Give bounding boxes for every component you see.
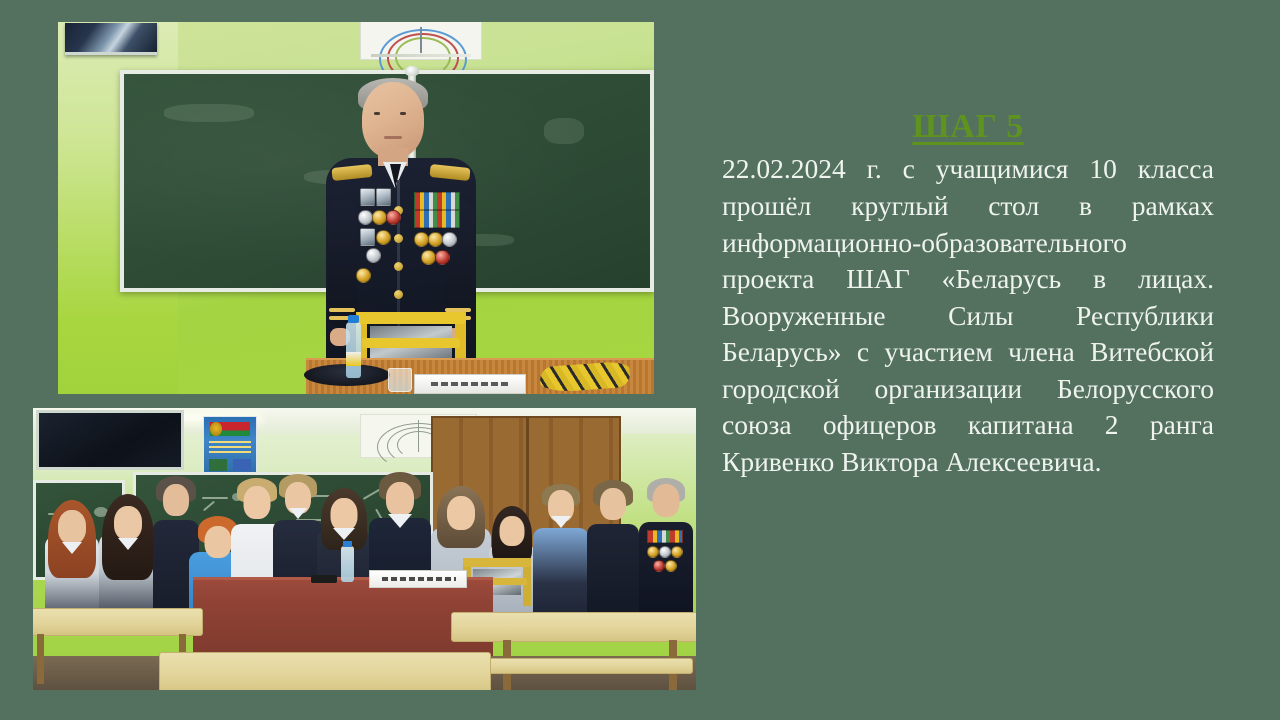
chest-badge (360, 228, 375, 246)
medal (435, 250, 450, 265)
water-bottle-icon (346, 322, 361, 378)
medal (386, 210, 401, 225)
medal (372, 210, 387, 225)
ribbon-bar (414, 210, 460, 228)
photo-group-with-students (33, 408, 696, 690)
person-student (587, 480, 639, 628)
wall-monitor-icon (36, 410, 184, 470)
medal (376, 230, 391, 245)
phone-icon (311, 575, 337, 583)
water-bottle-icon (341, 546, 354, 582)
ceiling-monitor-icon (65, 23, 157, 55)
text-panel: ШАГ 5 22.02.2024 г. с учащимися 10 класс… (722, 108, 1214, 480)
school-desk (33, 608, 203, 636)
school-desk (451, 612, 696, 642)
page-title: ШАГ 5 (722, 108, 1214, 145)
ribbon-bar (414, 192, 460, 210)
medal (358, 210, 373, 225)
chalkboard-knob (405, 66, 419, 76)
nameplate (414, 374, 526, 394)
wall-poster-arcs (360, 22, 482, 60)
slide-canvas: ШАГ 5 22.02.2024 г. с учащимися 10 класс… (0, 0, 1280, 720)
state-symbols-poster (203, 416, 257, 476)
medal (442, 232, 457, 247)
medal (421, 250, 436, 265)
photo-officer-at-chalkboard (58, 22, 654, 394)
chest-badge (376, 188, 391, 206)
nameplate (369, 570, 467, 588)
school-desk-shelf (481, 658, 693, 674)
slide-body-text: 22.02.2024 г. с учащимися 10 класса прош… (722, 151, 1214, 480)
person-officer (639, 478, 693, 628)
medal (366, 248, 381, 263)
glass-icon (388, 368, 412, 392)
school-desk (159, 652, 491, 690)
medal (414, 232, 429, 247)
chest-badge (360, 188, 375, 206)
person-student (533, 484, 589, 628)
medal (356, 268, 371, 283)
presidium-table (193, 577, 493, 664)
medal (428, 232, 443, 247)
